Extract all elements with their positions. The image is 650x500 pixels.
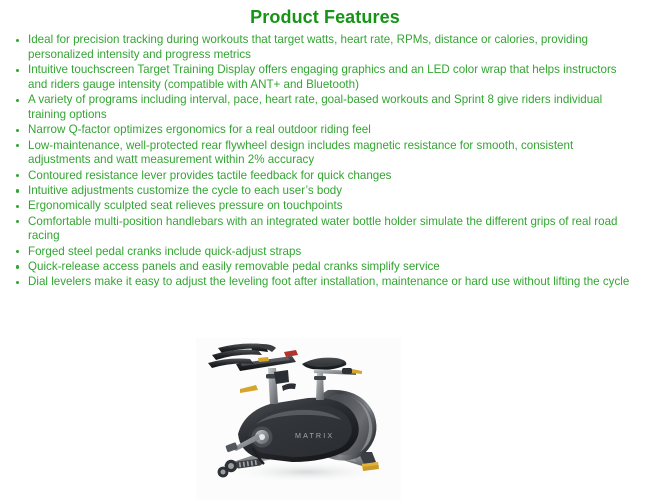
bullet-icon [16,189,19,192]
water-bottle-holder [274,370,289,384]
list-item: A variety of programs including interval… [15,93,632,123]
list-item-label: Dial levelers make it easy to adjust the… [28,275,629,288]
list-item: Quick-release access panels and easily r… [15,260,632,275]
bullet-icon [16,174,19,177]
list-item: Contoured resistance lever provides tact… [15,169,632,184]
bullet-icon [16,265,19,268]
list-item-label: Forged steel pedal cranks include quick-… [28,245,301,258]
list-item-label: A variety of programs including interval… [28,93,602,121]
page-title: Product Features [0,0,650,30]
list-item: Ideal for precision tracking during work… [15,33,632,63]
list-item: Intuitive touchscreen Target Training Di… [15,63,632,93]
list-item: Narrow Q-factor optimizes ergonomics for… [15,123,632,138]
list-item-label: Contoured resistance lever provides tact… [28,169,391,182]
bullet-icon [16,205,19,208]
list-item-label: Ergonomically sculpted seat relieves pre… [28,199,343,212]
bullet-icon [16,281,19,284]
feature-list: Ideal for precision tracking during work… [0,30,650,290]
list-item-label: Comfortable multi-position handlebars wi… [28,215,617,243]
list-item-label: Quick-release access panels and easily r… [28,260,440,273]
product-features-page: Product Features Ideal for precision tra… [0,0,650,500]
list-item: Intuitive adjustments customize the cycl… [15,184,632,199]
bullet-icon [16,69,19,72]
product-image: MATRIX [196,338,401,500]
bullet-icon [16,250,19,253]
bullet-icon [16,220,19,223]
brand-mark: MATRIX [295,431,334,440]
list-item: Ergonomically sculpted seat relieves pre… [15,199,632,214]
list-item-label: Ideal for precision tracking during work… [28,33,588,61]
list-item: Low-maintenance, well-protected rear fly… [15,139,632,169]
bullet-icon [16,99,19,102]
bullet-icon [16,129,19,132]
list-item-label: Low-maintenance, well-protected rear fly… [28,139,573,167]
bullet-icon [16,144,19,147]
list-item-label: Intuitive touchscreen Target Training Di… [28,63,617,91]
list-item: Comfortable multi-position handlebars wi… [15,215,632,245]
list-item-label: Intuitive adjustments customize the cycl… [28,184,342,197]
list-item: Dial levelers make it easy to adjust the… [15,275,632,290]
bullet-icon [16,39,19,42]
list-item-label: Narrow Q-factor optimizes ergonomics for… [28,123,371,136]
list-item: Forged steel pedal cranks include quick-… [15,245,632,260]
